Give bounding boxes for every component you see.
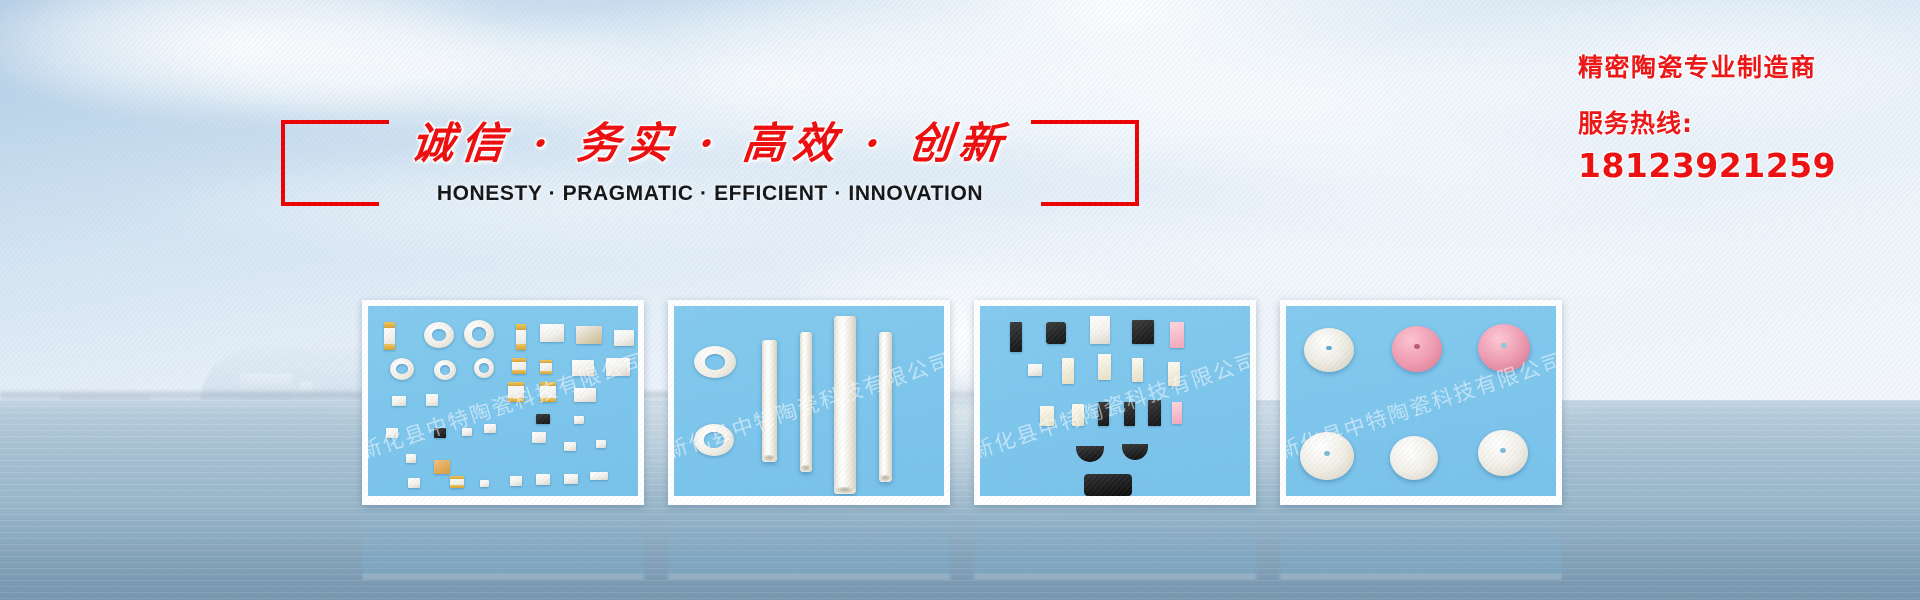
slogan-block: 诚信 · 务实 · 高效 · 创新 HONESTY · PRAGMATIC · … [0, 108, 1420, 218]
ceramic-block [1098, 354, 1111, 380]
ceramic-tube [762, 340, 777, 462]
ceramic-part [464, 320, 494, 348]
ceramic-plate [1084, 474, 1132, 496]
ceramic-part [510, 476, 522, 486]
ceramic-part [574, 388, 596, 402]
ceramic-block [1010, 322, 1022, 352]
ceramic-arc [1076, 446, 1104, 462]
ceramic-ring [694, 346, 736, 378]
product-photo-4: 新化县中特陶瓷科技有限公司 [1286, 306, 1556, 496]
ceramic-ring [694, 424, 734, 456]
ceramic-block [1098, 402, 1109, 426]
ceramic-disc [1390, 436, 1438, 480]
ceramic-part [540, 360, 552, 374]
ceramic-block [1170, 322, 1184, 348]
ceramic-part [408, 478, 420, 488]
ceramic-block [1172, 402, 1182, 424]
ceramic-part [434, 460, 450, 474]
ceramic-part [450, 476, 464, 488]
product-photo-3: 新化县中特陶瓷科技有限公司 [980, 306, 1250, 496]
slogan-text-group: 诚信 · 务实 · 高效 · 创新 HONESTY · PRAGMATIC · … [389, 120, 1031, 205]
ceramic-part [508, 382, 524, 402]
ceramic-part [614, 330, 634, 346]
ceramic-disc [1300, 432, 1354, 480]
hotline-label: 服务热线: [1578, 104, 1908, 140]
slogan-chinese: 诚信 · 务实 · 高效 · 创新 [409, 120, 1012, 169]
ceramic-part [426, 394, 438, 406]
ceramic-part [576, 326, 602, 344]
ceramic-disc [1478, 324, 1530, 372]
ceramic-part [406, 454, 416, 463]
ceramic-block [1072, 404, 1084, 426]
bracket-right-decoration [1031, 120, 1139, 206]
slogan-english: HONESTY · PRAGMATIC · EFFICIENT · INNOVA… [437, 182, 983, 206]
ceramic-disc [1304, 328, 1354, 372]
ceramic-part [424, 322, 454, 348]
ceramic-tube [879, 332, 892, 482]
ceramic-block [1168, 362, 1180, 386]
ceramic-disc [1478, 430, 1528, 476]
panel-watermark: 新化县中特陶瓷科技有限公司 [980, 344, 1250, 465]
product-photo-1: 新化县中特陶瓷科技有限公司 [368, 306, 638, 496]
ceramic-part [480, 480, 489, 487]
ceramic-part [540, 382, 556, 402]
ceramic-part [474, 358, 494, 378]
product-panel-2[interactable]: 新化县中特陶瓷科技有限公司 [668, 300, 950, 505]
ceramic-part [574, 416, 584, 424]
ceramic-block [1124, 402, 1135, 426]
ceramic-part [536, 414, 550, 424]
ceramic-block [1090, 316, 1110, 344]
ceramic-part [512, 358, 526, 374]
ceramic-block [1040, 406, 1054, 426]
slogan-row: 诚信 · 务实 · 高效 · 创新 HONESTY · PRAGMATIC · … [0, 120, 1420, 206]
hotline-phone-number[interactable]: 18123921259 [1578, 146, 1908, 185]
ceramic-part [564, 474, 578, 484]
product-photo-2: 新化县中特陶瓷科技有限公司 [674, 306, 944, 496]
ceramic-tube [800, 332, 812, 472]
ceramic-part [572, 360, 594, 376]
ceramic-part [606, 358, 630, 376]
product-panel-1[interactable]: 新化县中特陶瓷科技有限公司 [362, 300, 644, 505]
ceramic-part [386, 428, 398, 438]
company-tagline: 精密陶瓷专业制造商 [1578, 48, 1908, 84]
ceramic-block [1046, 322, 1066, 344]
ceramic-part [532, 432, 546, 443]
ceramic-part [390, 358, 414, 380]
ceramic-part [564, 442, 576, 451]
hero-banner: 诚信 · 务实 · 高效 · 创新 HONESTY · PRAGMATIC · … [0, 0, 1920, 600]
ceramic-part [434, 360, 456, 380]
ceramic-part [536, 474, 550, 485]
ceramic-part [540, 324, 564, 342]
ceramic-part [590, 472, 608, 480]
ceramic-block [1148, 400, 1161, 426]
ceramic-block [1028, 364, 1042, 376]
contact-block: 精密陶瓷专业制造商 服务热线: 18123921259 [1578, 48, 1908, 185]
ceramic-part [392, 396, 406, 406]
ceramic-part [462, 428, 472, 436]
ceramic-block [1132, 358, 1143, 382]
ceramic-tube [834, 316, 856, 494]
ceramic-arc [1122, 444, 1148, 460]
ceramic-part [596, 440, 606, 448]
ceramic-part [484, 424, 496, 433]
ceramic-part [384, 322, 395, 350]
ceramic-block [1062, 358, 1074, 384]
bracket-left-decoration [281, 120, 389, 206]
product-panel-3[interactable]: 新化县中特陶瓷科技有限公司 [974, 300, 1256, 505]
ceramic-part [434, 428, 446, 438]
ceramic-part [516, 324, 526, 350]
ceramic-disc [1392, 326, 1442, 372]
product-panel-4[interactable]: 新化县中特陶瓷科技有限公司 [1280, 300, 1562, 505]
product-panel-strip: 新化县中特陶瓷科技有限公司 新化县中特陶瓷科技有限公司 [362, 300, 1562, 505]
ceramic-block [1132, 320, 1154, 344]
